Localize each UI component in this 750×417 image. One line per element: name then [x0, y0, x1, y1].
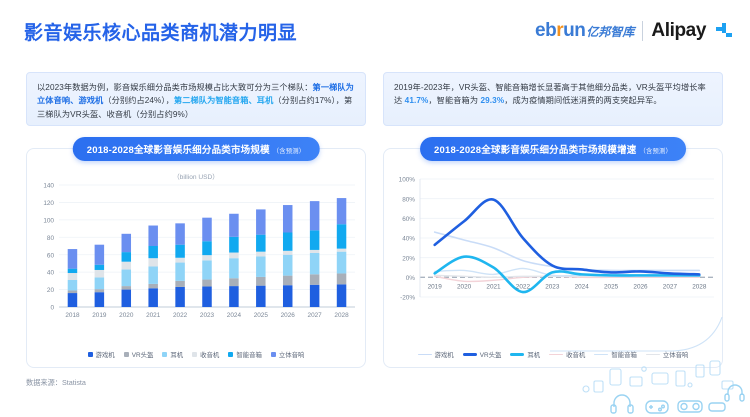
bar-segment [122, 286, 132, 289]
legend-item[interactable]: VR头盔 [124, 350, 154, 359]
line-chart-y-tick: 60% [402, 216, 415, 223]
bar-segment [310, 285, 320, 307]
legend-item[interactable]: 智能音箱 [594, 350, 637, 359]
legend-label: 收音机 [566, 350, 585, 359]
bar-segment [337, 252, 347, 274]
legend-swatch-icon [271, 352, 276, 357]
bar-segment [68, 290, 78, 293]
line-chart-title-suffix: （含预测） [639, 148, 671, 155]
bar-segment [310, 250, 320, 253]
bar-segment [256, 286, 266, 307]
legend-item[interactable]: 立体音响 [646, 350, 689, 359]
callout-right-text-3: ，成为疫情期间低迷消费的两支突起异军。 [504, 96, 661, 105]
bar-chart-y-tick: 80 [47, 235, 55, 242]
bar-chart-x-tick: 2023 [200, 312, 215, 319]
bar-segment [229, 237, 239, 253]
bar-segment [95, 265, 105, 270]
bar-segment [122, 262, 132, 270]
bar-chart-x-tick: 2018 [65, 312, 80, 319]
bar-segment [283, 255, 293, 276]
bar-segment [337, 249, 347, 252]
bar-chart-title: 2018-2028全球影音娱乐细分品类市场规模 [87, 145, 270, 156]
callout-left-text-1: 以2023年数据为例，影音娱乐细分品类市场规模占比大致可分为三个梯队： [37, 83, 313, 92]
bar-segment [202, 287, 212, 307]
line-chart-y-tick: 100% [399, 177, 416, 184]
bar-segment [310, 201, 320, 230]
bar-segment [175, 287, 185, 307]
bar-segment [148, 246, 158, 258]
line-chart-card: 2018-2028全球影音娱乐细分品类市场规模增速（含预测） 100%80%60… [383, 148, 723, 368]
bar-segment [283, 205, 293, 232]
bar-segment [175, 281, 185, 287]
bar-segment [68, 273, 78, 280]
bar-segment [256, 277, 266, 286]
bar-segment [95, 289, 105, 292]
callout-right-number-1: 41.7% [405, 96, 429, 105]
bar-segment [283, 285, 293, 307]
legend-line-icon [549, 354, 563, 355]
bar-segment [202, 255, 212, 260]
bar-segment [229, 258, 239, 278]
slide-header: 影音娱乐核心品类商机潜力明显 eb r un 亿邦智库 Alipay [0, 0, 750, 60]
bar-segment [283, 232, 293, 250]
bar-chart-x-tick: 2025 [254, 312, 269, 319]
legend-item[interactable]: 游戏机 [88, 350, 115, 359]
line-chart-x-tick: 2027 [663, 283, 678, 290]
bar-segment [95, 292, 105, 307]
bar-segment [122, 270, 132, 287]
alipay-logo-text: Alipay [651, 20, 706, 42]
bar-segment [202, 260, 212, 279]
legend-label: 游戏机 [96, 350, 115, 359]
legend-swatch-icon [162, 352, 167, 357]
bar-segment [148, 266, 158, 283]
callout-right: 2019年-2023年，VR头盔、智能音箱增长显著高于其他细分品类，VR头盔平均… [383, 72, 723, 126]
bar-chart-x-tick: 2026 [281, 312, 296, 319]
bar-chart-y-tick: 20 [47, 287, 55, 294]
bar-chart-y-tick: 40 [47, 270, 55, 277]
bar-segment [337, 273, 347, 284]
bar-segment [148, 288, 158, 307]
bar-chart-y-tick: 140 [43, 183, 54, 190]
bar-chart-plot: 0204060801001201402018201920202021202220… [27, 179, 365, 327]
legend-label: 耳机 [170, 350, 183, 359]
bar-segment [175, 263, 185, 281]
bar-chart-x-tick: 2024 [227, 312, 242, 319]
line-chart-y-tick: -20% [400, 295, 415, 302]
legend-label: 收音机 [200, 350, 219, 359]
bar-chart-y-tick: 60 [47, 252, 55, 259]
bar-segment [337, 198, 347, 224]
legend-item[interactable]: 收音机 [192, 350, 219, 359]
bar-segment [337, 284, 347, 307]
bar-chart-legend: 游戏机VR头盔耳机收音机智能音箱立体音响 [27, 350, 365, 359]
bar-segment [148, 284, 158, 288]
legend-label: 智能音箱 [611, 350, 637, 359]
ebrun-logo: eb r un 亿邦智库 [535, 20, 634, 42]
bar-chart-x-tick: 2021 [146, 312, 161, 319]
line-chart-plot: 100%80%60%40%20%0%-20%201920202021202220… [384, 171, 722, 327]
bar-segment [68, 280, 78, 290]
slide-root: 影音娱乐核心品类商机潜力明显 eb r un 亿邦智库 Alipay 以2023… [0, 0, 750, 417]
bar-segment [175, 223, 185, 244]
bar-segment [310, 274, 320, 284]
legend-item[interactable]: 智能音箱 [228, 350, 262, 359]
legend-label: VR头盔 [132, 350, 154, 359]
legend-swatch-icon [124, 352, 129, 357]
bar-segment [229, 278, 239, 286]
bar-segment [202, 241, 212, 255]
legend-line-icon [463, 353, 477, 356]
bar-segment [68, 269, 78, 273]
line-chart-x-tick: 2026 [633, 283, 648, 290]
bar-chart-card: 2018-2028全球影音娱乐细分品类市场规模（含预测） （billion US… [26, 148, 366, 368]
bar-segment [122, 290, 132, 307]
line-chart-y-tick: 40% [402, 236, 415, 243]
bar-chart-x-tick: 2020 [119, 312, 134, 319]
line-chart-y-tick: 80% [402, 196, 415, 203]
line-chart-x-tick: 2022 [516, 283, 531, 290]
ebrun-logo-chinese: 亿邦智库 [586, 23, 634, 40]
bar-segment [229, 286, 239, 307]
bar-segment [283, 251, 293, 255]
line-series-path [435, 257, 700, 293]
line-chart-x-tick: 2021 [486, 283, 501, 290]
bar-segment [148, 258, 158, 266]
line-chart-legend: 游戏机VR头盔耳机收音机智能音箱立体音响 [384, 350, 722, 359]
ebrun-logo-un: un [563, 20, 585, 42]
bar-segment [229, 214, 239, 237]
bar-chart-title-suffix: （含预测） [273, 148, 305, 155]
legend-line-icon [646, 354, 660, 355]
bar-segment [310, 230, 320, 250]
bar-segment [229, 253, 239, 259]
legend-label: 立体音响 [663, 350, 689, 359]
line-chart-x-tick: 2024 [575, 283, 590, 290]
line-series-path [435, 199, 700, 274]
bar-segment [122, 252, 132, 262]
ebrun-logo-r: r [556, 20, 563, 42]
bar-segment [95, 277, 105, 289]
page-title: 影音娱乐核心品类商机潜力明显 [24, 18, 297, 45]
bar-segment [148, 226, 158, 246]
bar-chart-x-tick: 2019 [92, 312, 107, 319]
line-chart-svg: 100%80%60%40%20%0%-20%201920202021202220… [384, 171, 724, 327]
bar-chart-y-tick: 100 [43, 217, 54, 224]
legend-line-icon [594, 354, 608, 355]
line-chart-x-tick: 2020 [457, 283, 472, 290]
bar-segment [202, 280, 212, 287]
legend-item[interactable]: 耳机 [510, 350, 540, 359]
legend-line-icon [418, 354, 432, 355]
line-chart-x-tick: 2023 [545, 283, 560, 290]
callout-left: 以2023年数据为例，影音娱乐细分品类市场规模占比大致可分为三个梯队：第一梯队为… [26, 72, 366, 126]
alipay-plus-icon [716, 23, 732, 39]
callout-left-highlight-2: 第二梯队为智能音箱、耳机 [174, 96, 273, 105]
legend-label: 立体音响 [279, 350, 305, 359]
legend-swatch-icon [192, 352, 197, 357]
callout-left-text-2: （分别约占24%）， [103, 96, 174, 105]
callout-right-text-2: ，智能音箱为 [428, 96, 480, 105]
callout-right-number-2: 29.3% [481, 96, 505, 105]
bar-segment [122, 234, 132, 252]
legend-label: 耳机 [527, 350, 540, 359]
bar-chart-x-tick: 2027 [308, 312, 323, 319]
ebrun-logo-eb: eb [535, 20, 556, 42]
legend-item[interactable]: 立体音响 [271, 350, 305, 359]
bar-segment [95, 270, 105, 277]
line-chart-x-tick: 2025 [604, 283, 619, 290]
bar-chart-x-tick: 2022 [173, 312, 188, 319]
legend-label: VR头盔 [480, 350, 502, 359]
bar-chart-y-tick: 120 [43, 200, 54, 207]
line-chart-y-tick: 0% [406, 275, 416, 282]
brand-bar: eb r un 亿邦智库 Alipay [535, 20, 732, 42]
legend-label: 智能音箱 [236, 350, 262, 359]
bar-chart-title-banner: 2018-2028全球影音娱乐细分品类市场规模（含预测） [73, 137, 320, 161]
legend-label: 游戏机 [435, 350, 454, 359]
legend-swatch-icon [228, 352, 233, 357]
bar-segment [175, 245, 185, 258]
bar-segment [256, 209, 266, 234]
bar-segment [95, 245, 105, 265]
line-chart-title-banner: 2018-2028全球影音娱乐细分品类市场规模增速（含预测） [420, 137, 686, 161]
line-chart-x-tick: 2019 [428, 283, 443, 290]
legend-swatch-icon [88, 352, 93, 357]
bar-segment [337, 224, 347, 248]
bar-segment [256, 252, 266, 257]
bar-segment [256, 256, 266, 276]
line-chart-title: 2018-2028全球影音娱乐细分品类市场规模增速 [434, 145, 636, 156]
bar-chart-y-tick: 0 [50, 305, 54, 312]
bar-segment [68, 293, 78, 307]
brand-divider [642, 21, 643, 41]
bar-segment [283, 276, 293, 286]
line-chart-x-tick: 2028 [692, 283, 707, 290]
bar-segment [256, 235, 266, 252]
legend-item[interactable]: VR头盔 [463, 350, 502, 359]
legend-item[interactable]: 收音机 [549, 350, 585, 359]
line-chart-y-tick: 20% [402, 255, 415, 262]
bar-chart-svg: 0204060801001201402018201920202021202220… [27, 179, 367, 327]
bar-chart-x-tick: 2028 [334, 312, 349, 319]
legend-item[interactable]: 耳机 [162, 350, 183, 359]
legend-item[interactable]: 游戏机 [418, 350, 454, 359]
legend-line-icon [510, 353, 524, 356]
bar-segment [310, 253, 320, 274]
bar-segment [202, 218, 212, 242]
bar-segment [68, 249, 78, 269]
bar-segment [175, 258, 185, 263]
source-note: 数据来源：Statista [26, 378, 86, 388]
